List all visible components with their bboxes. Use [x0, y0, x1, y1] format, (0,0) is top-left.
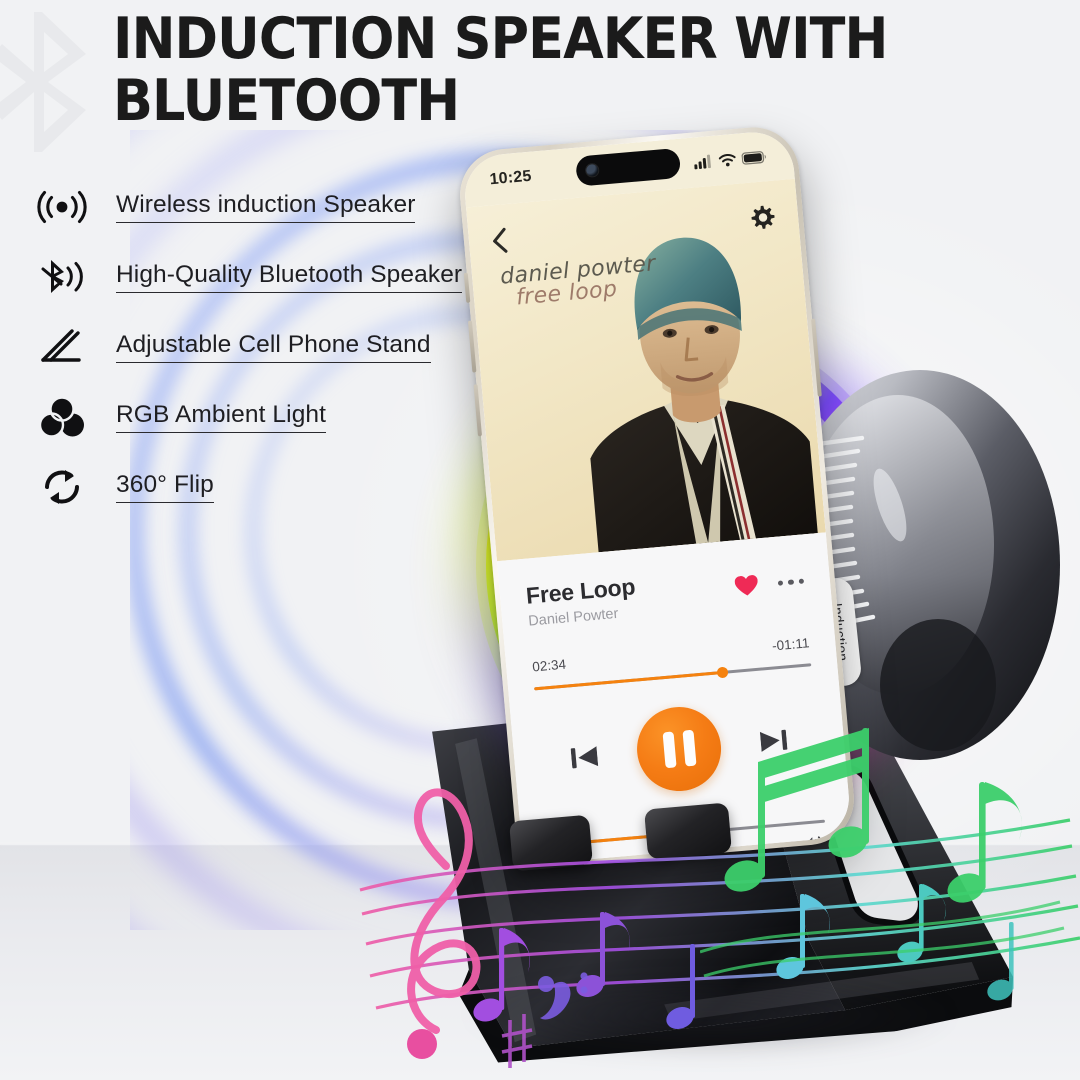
track-title: Free Loop	[525, 573, 636, 609]
pause-icon[interactable]	[634, 704, 725, 795]
title-line-1: INDUCTION SPEAKER WITH	[113, 8, 923, 70]
feature-label: Adjustable Cell Phone Stand	[116, 331, 431, 363]
cellular-signal-icon	[693, 154, 713, 170]
rgb-circles-icon	[34, 394, 90, 440]
page-title: INDUCTION SPEAKER WITH BLUETOOTH	[113, 8, 993, 132]
smartphone: 10:25	[456, 124, 857, 871]
more-dots-icon[interactable]	[777, 578, 804, 586]
heart-icon[interactable]	[734, 575, 759, 598]
feature-list: Wireless induction Speaker High-Quality …	[34, 172, 462, 522]
feature-item-bluetooth: High-Quality Bluetooth Speaker	[34, 242, 462, 312]
phone-holder-clip-right	[644, 802, 732, 859]
status-icons	[693, 149, 767, 169]
phone-holder-clip-left	[509, 815, 593, 872]
seek-knob[interactable]	[717, 666, 729, 678]
remaining-time: -01:11	[771, 635, 809, 653]
previous-track-icon[interactable]	[570, 744, 598, 770]
product-shadow	[360, 955, 1060, 1075]
phone-frame: 10:25	[456, 124, 857, 871]
album-artwork: daniel powter free loop	[466, 179, 826, 561]
track-info: Free Loop Daniel Powter	[525, 559, 806, 630]
feature-label: 360° Flip	[116, 471, 214, 503]
elapsed-time: 02:34	[532, 657, 567, 675]
feature-item-wireless: Wireless induction Speaker	[34, 172, 462, 242]
mute-switch[interactable]	[464, 273, 471, 303]
battery-icon	[741, 150, 767, 165]
bluetooth-waves-icon	[34, 254, 90, 300]
chevron-left-icon[interactable]	[490, 226, 509, 255]
rotate-360-icon	[34, 464, 90, 510]
feature-item-rgb: RGB Ambient Light	[34, 382, 462, 452]
title-line-2: BLUETOOTH	[113, 70, 923, 132]
feature-label: Wireless induction Speaker	[116, 191, 415, 223]
feature-item-stand: Adjustable Cell Phone Stand	[34, 312, 462, 382]
status-time: 10:25	[489, 168, 532, 190]
feature-item-flip: 360° Flip	[34, 452, 462, 522]
product-infographic: INDUCTION SPEAKER WITH BLUETOOTH Wireles…	[0, 0, 1080, 1080]
next-track-icon[interactable]	[760, 728, 788, 754]
seek-fill	[534, 671, 723, 690]
product-assembly: Induction 10:25	[0, 0, 1080, 1080]
wifi-icon	[718, 152, 736, 166]
feature-label: RGB Ambient Light	[116, 401, 326, 433]
front-camera-icon	[585, 163, 600, 178]
dynamic-island	[575, 148, 681, 187]
gear-icon[interactable]	[749, 204, 777, 232]
angle-adjust-icon	[34, 324, 90, 370]
phone-screen: 10:25	[462, 129, 853, 865]
wireless-signal-icon	[34, 184, 90, 230]
transport-controls	[537, 695, 821, 803]
feature-label: High-Quality Bluetooth Speaker	[116, 261, 462, 293]
track-actions	[733, 559, 805, 598]
